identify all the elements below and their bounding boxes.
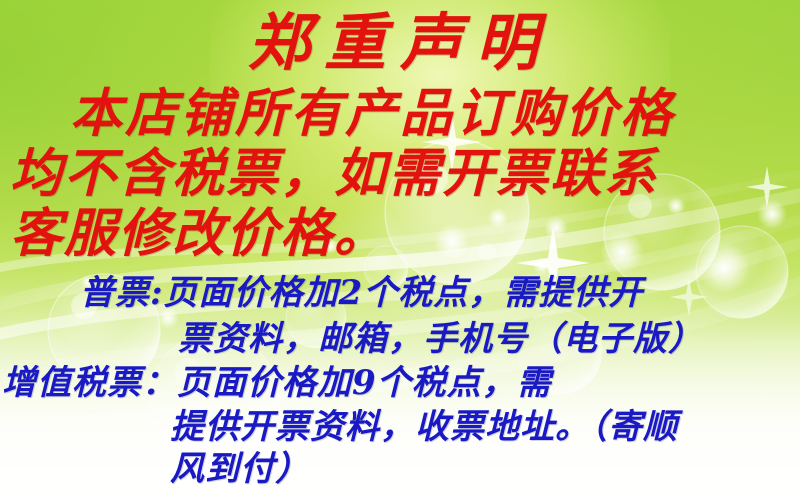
blue-notice-line-4: 提供开票资料，收票地址。（寄顺 xyxy=(170,410,678,444)
blue-notice-line-2: 票资料，邮箱，手机号（电子版） xyxy=(178,322,703,356)
red-notice-line-3: 客服修改价格。 xyxy=(10,208,388,260)
store-notice-banner: 郑重声明 本店铺所有产品订购价格 均不含税票，如需开票联系 客服修改价格。 普票… xyxy=(0,0,800,500)
blue-notice-line-5: 风到付） xyxy=(170,452,310,486)
blue-notice-line-1: 普票:页面价格加2个税点，需提供开 xyxy=(80,276,643,310)
red-notice-line-1: 本店铺所有产品订购价格 xyxy=(70,88,675,140)
red-notice-line-2: 均不含税票，如需开票联系 xyxy=(10,148,658,200)
blue-notice-line-3: 增值税票：页面价格加9个税点，需 xyxy=(2,366,552,400)
notice-content: 郑重声明 本店铺所有产品订购价格 均不含税票，如需开票联系 客服修改价格。 普票… xyxy=(0,0,800,500)
banner-title: 郑重声明 xyxy=(0,12,800,74)
